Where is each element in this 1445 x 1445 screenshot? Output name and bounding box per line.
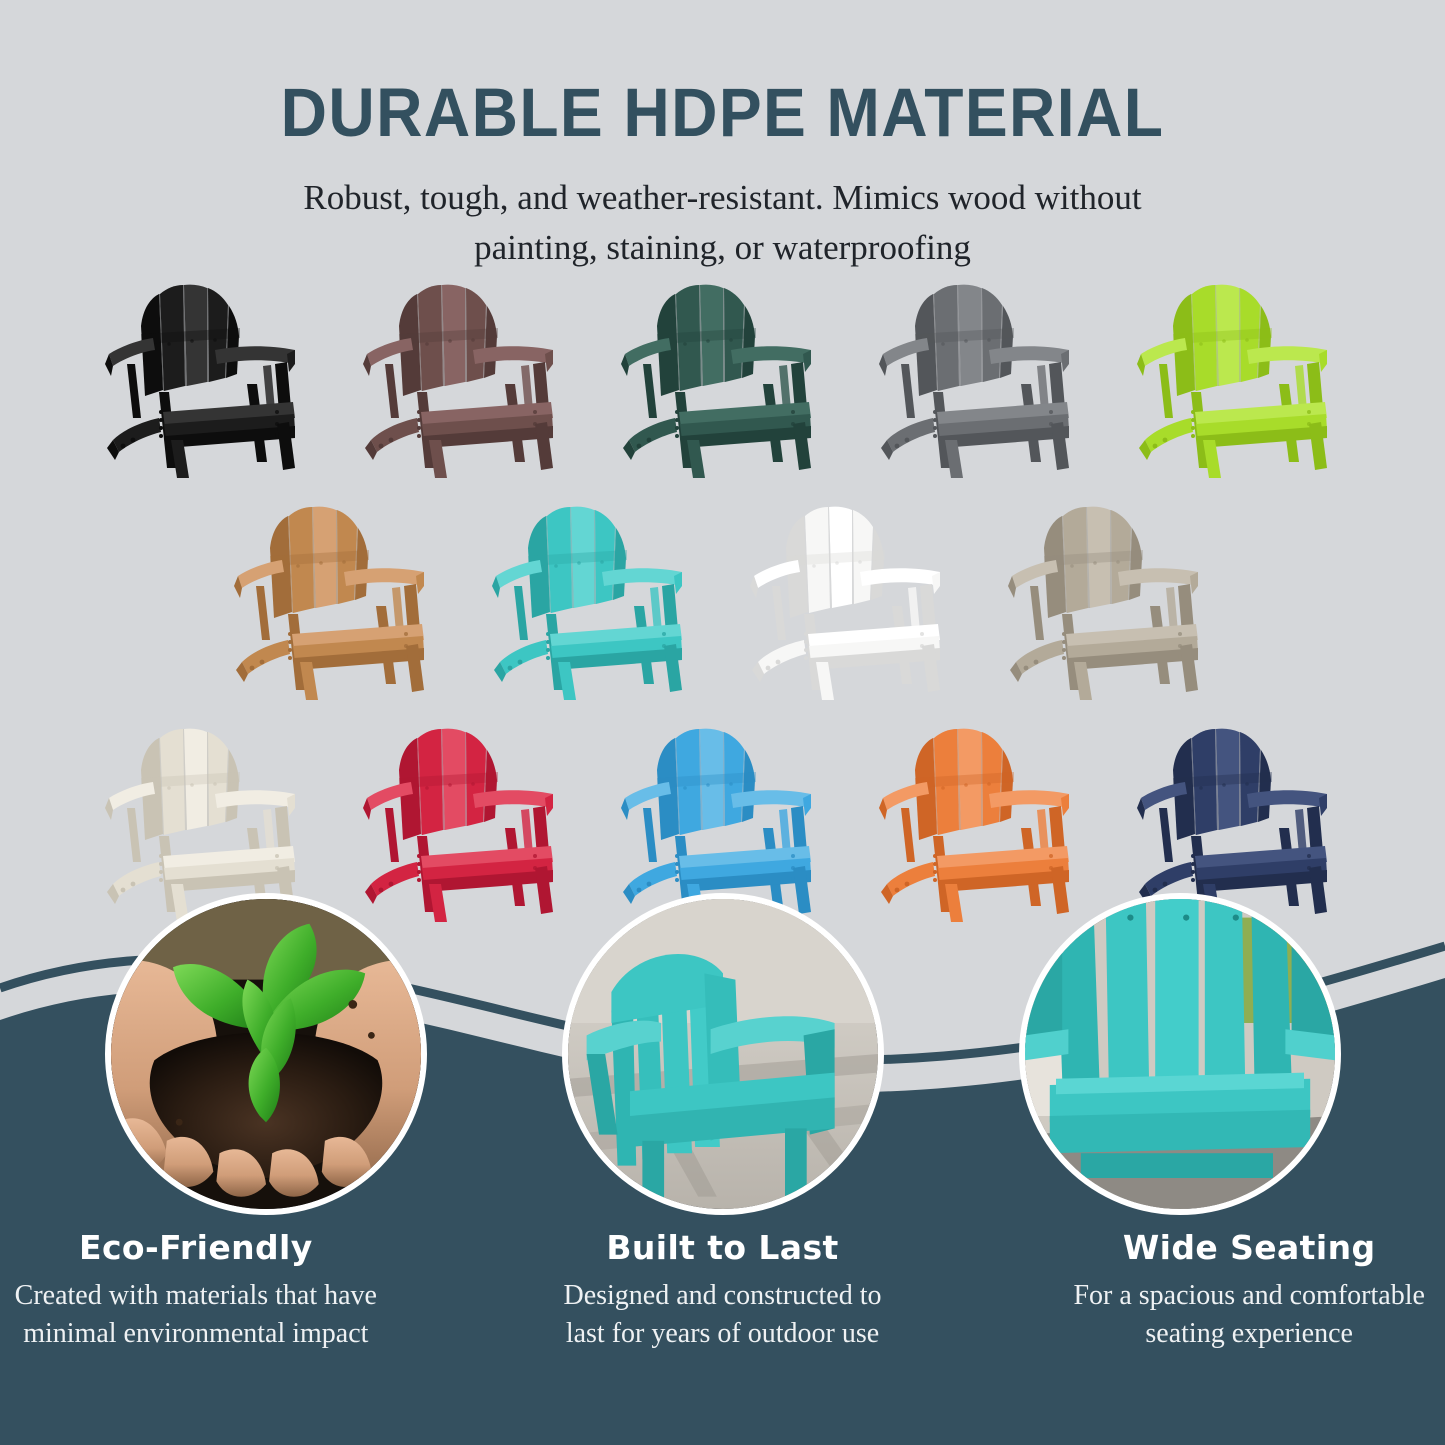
chair-color-grid	[0, 272, 1445, 928]
feature-body-line-2: last for years of outdoor use	[566, 1318, 879, 1349]
infographic-root: DURABLE HDPE MATERIAL Robust, tough, and…	[0, 0, 1445, 1445]
hands-holding-seedling-photo	[105, 893, 427, 1215]
feature-caption-1: Eco-Friendly Created with materials that…	[0, 1228, 392, 1352]
feature-captions: Eco-Friendly Created with materials that…	[0, 1228, 1445, 1352]
subtitle-line-1: Robust, tough, and weather-resistant. Mi…	[218, 173, 1228, 223]
chair-swatch-lime-green[interactable]	[1129, 272, 1349, 484]
adirondack-chair-icon	[97, 272, 317, 484]
chair-swatch-turquoise[interactable]	[484, 494, 704, 706]
adirondack-chair-icon	[226, 494, 446, 706]
feature-image-1-wrap	[105, 893, 427, 1215]
feature-body-line-1: For a spacious and comfortable	[1073, 1280, 1424, 1311]
feature-body-line-1: Created with materials that have	[15, 1280, 377, 1311]
header: DURABLE HDPE MATERIAL Robust, tough, and…	[0, 0, 1445, 272]
chair-swatch-dark-green[interactable]	[613, 272, 833, 484]
feature-body: Designed and constructed to last for yea…	[527, 1277, 919, 1352]
adirondack-chair-icon	[742, 494, 962, 706]
chair-swatch-teak[interactable]	[226, 494, 446, 706]
subtitle-line-2: painting, staining, or waterproofing	[218, 223, 1228, 273]
feature-heading: Wide Seating	[1053, 1228, 1445, 1267]
feature-heading: Built to Last	[527, 1228, 919, 1267]
turquoise-chair-on-patio-photo	[562, 893, 884, 1215]
feature-body-line-1: Designed and constructed to	[563, 1280, 881, 1311]
chair-swatch-black[interactable]	[97, 272, 317, 484]
feature-images	[0, 893, 1445, 1215]
chair-row-2	[0, 494, 1445, 706]
feature-caption-3: Wide Seating For a spacious and comforta…	[1053, 1228, 1445, 1352]
adirondack-chair-icon	[1000, 494, 1220, 706]
adirondack-chair-icon	[355, 272, 575, 484]
feature-body-line-2: seating experience	[1145, 1318, 1353, 1349]
chair-swatch-gray[interactable]	[871, 272, 1091, 484]
adirondack-chair-icon	[1129, 272, 1349, 484]
feature-caption-2: Built to Last Designed and constructed t…	[527, 1228, 919, 1352]
feature-body: Created with materials that have minimal…	[0, 1277, 392, 1352]
adirondack-chair-icon	[871, 272, 1091, 484]
page-subtitle: Robust, tough, and weather-resistant. Mi…	[218, 173, 1228, 272]
feature-body: For a spacious and comfortable seating e…	[1053, 1277, 1445, 1352]
feature-image-2-wrap	[562, 893, 884, 1215]
adirondack-chair-icon	[484, 494, 704, 706]
turquoise-chair-wide-seat-closeup-photo	[1019, 893, 1341, 1215]
feature-body-line-2: minimal environmental impact	[23, 1318, 368, 1349]
page-title: DURABLE HDPE MATERIAL	[51, 0, 1395, 147]
chair-row-1	[0, 272, 1445, 484]
feature-caption-row: Eco-Friendly Created with materials that…	[0, 1228, 1445, 1352]
adirondack-chair-icon	[613, 272, 833, 484]
chair-swatch-weathered-wood[interactable]	[1000, 494, 1220, 706]
feature-image-3-wrap	[1019, 893, 1341, 1215]
feature-heading: Eco-Friendly	[0, 1228, 392, 1267]
chair-swatch-brown[interactable]	[355, 272, 575, 484]
chair-swatch-white[interactable]	[742, 494, 962, 706]
feature-image-row	[0, 893, 1445, 1215]
